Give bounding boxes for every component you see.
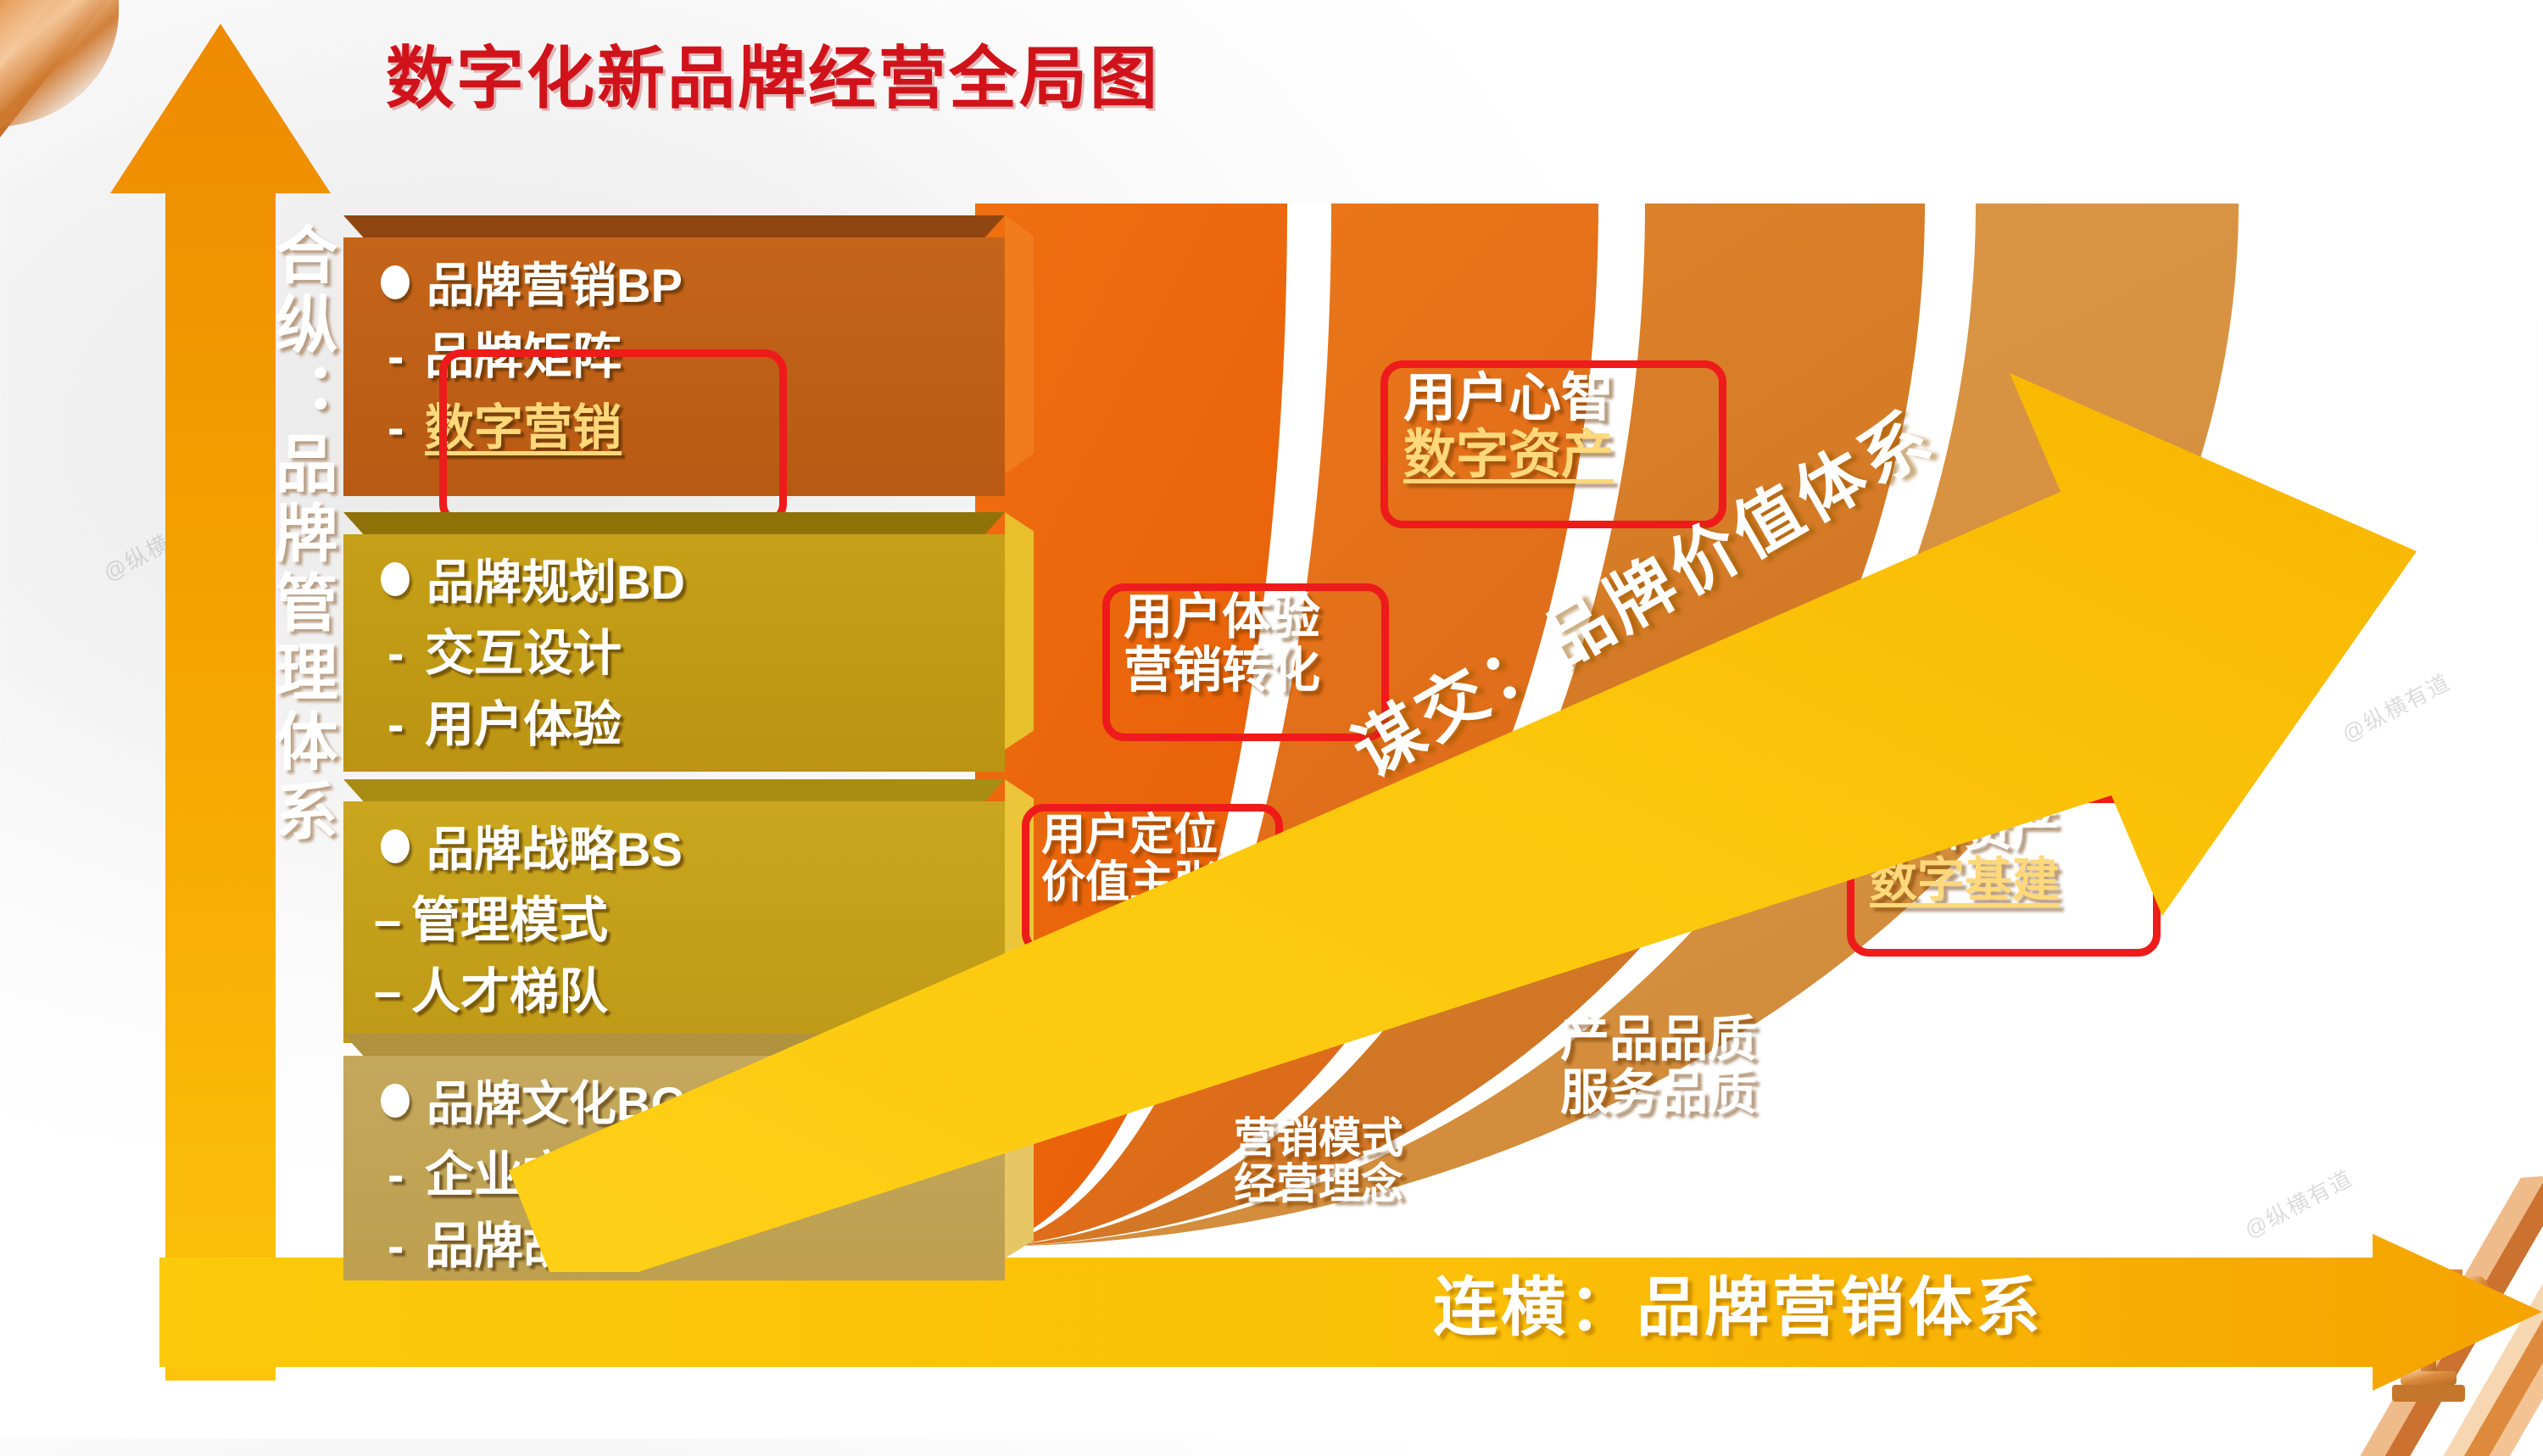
bullet-dot xyxy=(381,1084,410,1118)
diagonal-arrow xyxy=(509,365,2417,1272)
bullet-dot xyxy=(381,265,410,299)
decorative-ribbon-top-left-inner xyxy=(0,0,119,127)
vertical-axis-label: 合纵：品牌管理体系 xyxy=(214,222,332,848)
box-header: 品牌营销BP xyxy=(343,248,1005,316)
bullet-dot xyxy=(381,829,410,863)
bullet-dot xyxy=(381,562,410,596)
page-title: 数字化新品牌经营全局图 xyxy=(386,24,1160,122)
